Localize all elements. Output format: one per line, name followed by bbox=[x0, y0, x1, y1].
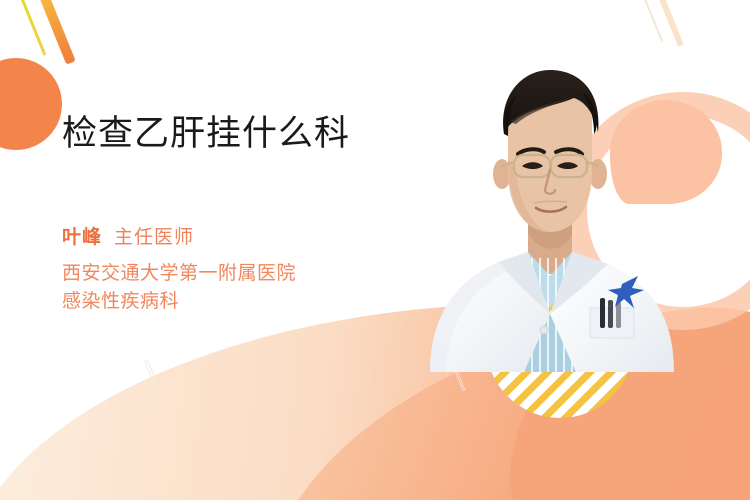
decorative-diagonal-stroke-pale-thin bbox=[639, 0, 663, 42]
doctor-meta: 叶峰主任医师 西安交通大学第一附属医院 感染性疾病科 bbox=[62, 224, 422, 316]
article-cover-card: 检查乙肝挂什么科 叶峰主任医师 西安交通大学第一附属医院 感染性疾病科 bbox=[0, 0, 750, 500]
decorative-orange-circle bbox=[0, 58, 62, 150]
text-block: 检查乙肝挂什么科 叶峰主任医师 西安交通大学第一附属医院 感染性疾病科 bbox=[62, 112, 422, 315]
doctor-name: 叶峰 bbox=[62, 227, 102, 248]
doctor-portrait bbox=[424, 62, 676, 372]
decorative-diagonal-stroke-pale-thick bbox=[654, 0, 684, 47]
doctor-identity-line: 叶峰主任医师 bbox=[62, 224, 422, 253]
decorative-diagonal-stroke-yellow bbox=[17, 0, 47, 56]
decorative-diagonal-stroke-orange bbox=[34, 0, 75, 65]
doctor-department: 感染性疾病科 bbox=[62, 288, 422, 316]
doctor-hospital: 西安交通大学第一附属医院 bbox=[62, 260, 422, 288]
page-title: 检查乙肝挂什么科 bbox=[62, 112, 422, 156]
doctor-professional-title: 主任医师 bbox=[114, 227, 194, 248]
